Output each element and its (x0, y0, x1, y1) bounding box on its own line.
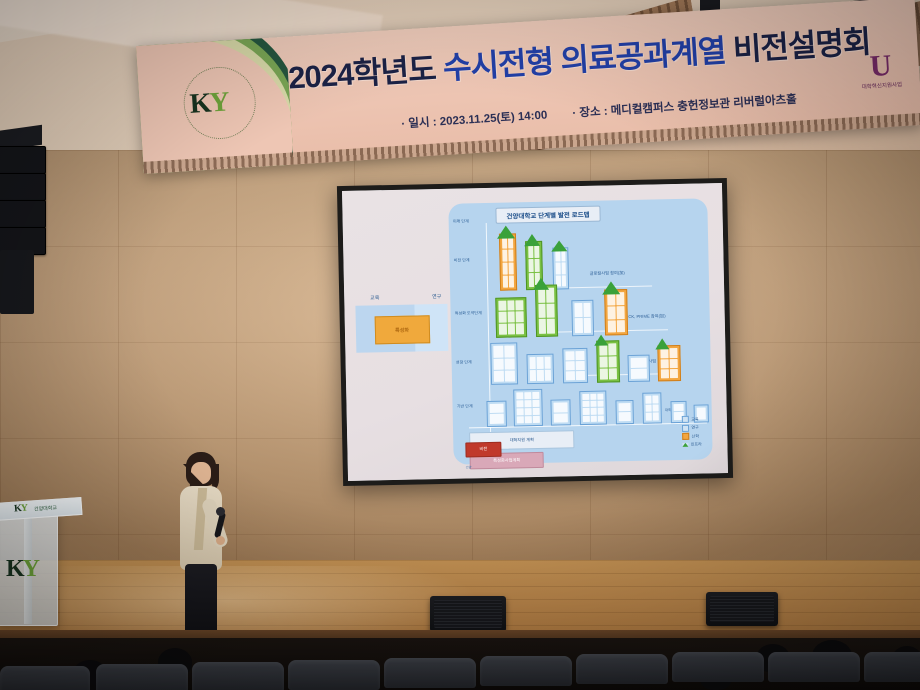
roof-icon (551, 240, 567, 251)
building-block (580, 390, 607, 425)
mini-center-box: 특성화 (374, 316, 429, 345)
legend-label-industry: 산학 (692, 433, 699, 439)
audience-seat (96, 664, 188, 690)
slide-y-label-3: 특성화 도약단계 (455, 310, 482, 317)
presenter-hand (216, 536, 225, 545)
microphone-head (216, 507, 225, 516)
slide-title: 건양대학교 단계별 발전 로드맵 (495, 205, 600, 223)
legend-label-education: 교육 (691, 416, 698, 422)
presentation-slide: 교육 연구 특성화 건양대학교 단계별 발전 로드맵 미래 단계 비전 단계 특… (342, 183, 728, 481)
legend-item-industry: 산학 (683, 433, 702, 440)
slide-y-label-1: 기반 단계 (457, 404, 473, 410)
roof-icon (524, 234, 540, 246)
audience-seat (480, 656, 572, 686)
slide-legend: 교육 연구 산학 인프라 (682, 416, 702, 449)
speaker-cabinet (0, 146, 46, 174)
podium-front-logo-y: Y (23, 556, 38, 582)
innovation-program-logo: U 대학혁신지원사업 (852, 50, 912, 115)
roof-icon (602, 281, 620, 294)
roof-icon (533, 277, 549, 289)
building-block (628, 355, 650, 382)
uj-logo-caption: 대학혁신지원사업 (854, 82, 910, 92)
legend-swatch-industry (683, 433, 690, 440)
building-block (513, 389, 543, 426)
stage-monitor-left (430, 596, 506, 632)
building-block (604, 289, 628, 335)
audience-seat (576, 654, 668, 684)
uj-logo-mark: U (852, 50, 910, 83)
slide-mini-diagram: 교육 연구 특성화 (356, 293, 448, 353)
slide-chart-area: 건양대학교 단계별 발전 로드맵 미래 단계 비전 단계 특성화 도약단계 성장… (449, 198, 713, 464)
roof-icon (497, 225, 515, 238)
ky-logo: KY (182, 65, 258, 141)
building-block (526, 354, 554, 385)
slide-y-label-5: 미래 단계 (453, 219, 469, 225)
audience-seat (192, 662, 284, 690)
building-block (642, 393, 663, 424)
podium-front-logo-k: K (6, 556, 23, 582)
side-speaker-cabinet (0, 250, 34, 314)
banner-date: · 일시 : 2023.11.25(토) 14:00 (401, 109, 548, 130)
legend-swatch-education (682, 416, 689, 423)
building-block (490, 343, 518, 385)
banner-title-event: 비전설명회 (732, 24, 872, 68)
slide-y-label-4: 비전 단계 (454, 258, 470, 264)
legend-swatch-infra (683, 442, 689, 446)
audience-seat (672, 652, 764, 682)
building-block (551, 400, 572, 426)
mini-research-label: 연구 (432, 293, 441, 300)
legend-item-education: 교육 (682, 416, 701, 423)
audience-area (0, 638, 920, 690)
legend-swatch-research (682, 424, 689, 431)
banner-title-year: 2024학년도 (287, 51, 436, 95)
building-block (596, 341, 620, 383)
audience-seat (0, 666, 90, 690)
banner-place: · 장소 : 메디컬캠퍼스 충헌정보관 리버럴아츠홀 (572, 94, 797, 120)
roof-icon (655, 338, 669, 349)
ky-logo-k: K (189, 88, 211, 120)
audience-seat (768, 652, 860, 682)
legend-item-research: 연구 (682, 424, 701, 431)
building-block (498, 233, 517, 291)
building-block (535, 285, 558, 338)
auditorium-photo: KY 2024학년도 수시전형 의료공과계열 비전설명회 · 일시 : 2023… (0, 0, 920, 690)
legend-label-research: 연구 (691, 425, 698, 431)
building-block (562, 348, 588, 384)
legend-label-infra: 인프라 (691, 441, 702, 447)
legend-item-infra: 인프라 (683, 441, 702, 447)
ky-logo-y: Y (209, 87, 229, 119)
slide-box-vision: 비전 (465, 441, 501, 457)
podium-front-logo: KY (6, 556, 38, 583)
audience-seat (288, 660, 380, 690)
building-block (615, 400, 633, 424)
stage-monitor-right (706, 592, 778, 626)
speaker-cabinet (0, 173, 46, 201)
banner-title-admission: 수시전형 (442, 44, 554, 86)
building-block (572, 299, 594, 336)
projection-screen-frame: 교육 연구 특성화 건양대학교 단계별 발전 로드맵 미래 단계 비전 단계 특… (337, 178, 733, 486)
podium-top-logo: KY (14, 503, 28, 515)
banner-title-department: 의료공과계열 (560, 33, 727, 78)
presenter (168, 452, 234, 648)
projection-screen: 교육 연구 특성화 건양대학교 단계별 발전 로드맵 미래 단계 비전 단계 특… (342, 183, 728, 481)
building-block (496, 297, 528, 338)
speaker-cabinet (0, 200, 46, 228)
slide-y-label-2: 성장 단계 (456, 359, 472, 365)
building-block (486, 400, 507, 427)
slide-footnote: 건양 (466, 464, 472, 469)
mini-education-label: 교육 (370, 295, 379, 302)
roof-icon (594, 334, 608, 345)
building-block (657, 345, 681, 381)
podium-top-logo-y: Y (20, 503, 27, 514)
audience-seat (384, 658, 476, 688)
audience-seat (864, 652, 920, 682)
presenter-trousers (185, 564, 217, 636)
